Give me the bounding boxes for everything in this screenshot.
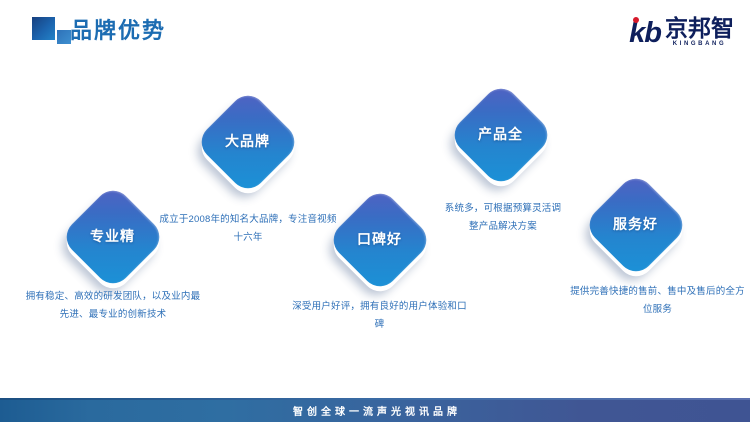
feature-node-3-desc: 深受用户好评，拥有良好的用户体验和口碑 <box>292 298 467 334</box>
decor-square-large <box>32 17 55 40</box>
brand-logo: kb 京邦智 KINGBANG <box>629 14 734 48</box>
feature-node-5-desc: 提供完善快捷的售前、售中及售后的全方位服务 <box>570 283 745 319</box>
diamond-5[interactable]: 服务好 <box>578 168 693 283</box>
slide-canvas: 品牌优势 kb 京邦智 KINGBANG 专业精 拥有稳定、高效的研发团队，以及… <box>0 0 750 422</box>
diamond-2[interactable]: 大品牌 <box>190 85 305 200</box>
diamond-4[interactable]: 产品全 <box>443 78 558 193</box>
feature-node-1: 专业精 <box>55 180 170 295</box>
diamond-1[interactable]: 专业精 <box>55 180 170 295</box>
diamond-3[interactable]: 口碑好 <box>322 183 437 298</box>
feature-node-1-desc: 拥有稳定、高效的研发团队，以及业内最先进、最专业的创新技术 <box>22 288 204 324</box>
feature-node-4-desc: 系统多，可根据预算灵活调整产品解决方案 <box>443 200 563 236</box>
logo-name-en: KINGBANG <box>673 41 726 48</box>
feature-node-2-desc: 成立于2008年的知名大品牌，专注音视频十六年 <box>157 211 339 247</box>
footer-accent-line <box>0 398 750 400</box>
logo-name-cn: 京邦智 <box>665 16 734 40</box>
decor-square-small <box>57 30 71 44</box>
diamond-5-face <box>582 171 689 278</box>
feature-node-5: 服务好 <box>578 168 693 283</box>
feature-node-3: 口碑好 <box>322 183 437 298</box>
diamond-1-face <box>59 183 166 290</box>
logo-monogram: kb <box>629 18 661 48</box>
feature-node-2: 大品牌 <box>190 85 305 200</box>
footer-bar: 智创全球一流声光视讯品牌 <box>0 398 750 422</box>
page-title: 品牌优势 <box>70 15 166 47</box>
diamond-3-face <box>326 186 433 293</box>
footer-slogan: 智创全球一流声光视讯品牌 <box>289 403 461 418</box>
diamond-2-face <box>194 88 301 195</box>
logo-wordmark: 京邦智 KINGBANG <box>665 16 734 48</box>
feature-node-4: 产品全 <box>443 78 558 193</box>
diamond-4-face <box>447 81 554 188</box>
